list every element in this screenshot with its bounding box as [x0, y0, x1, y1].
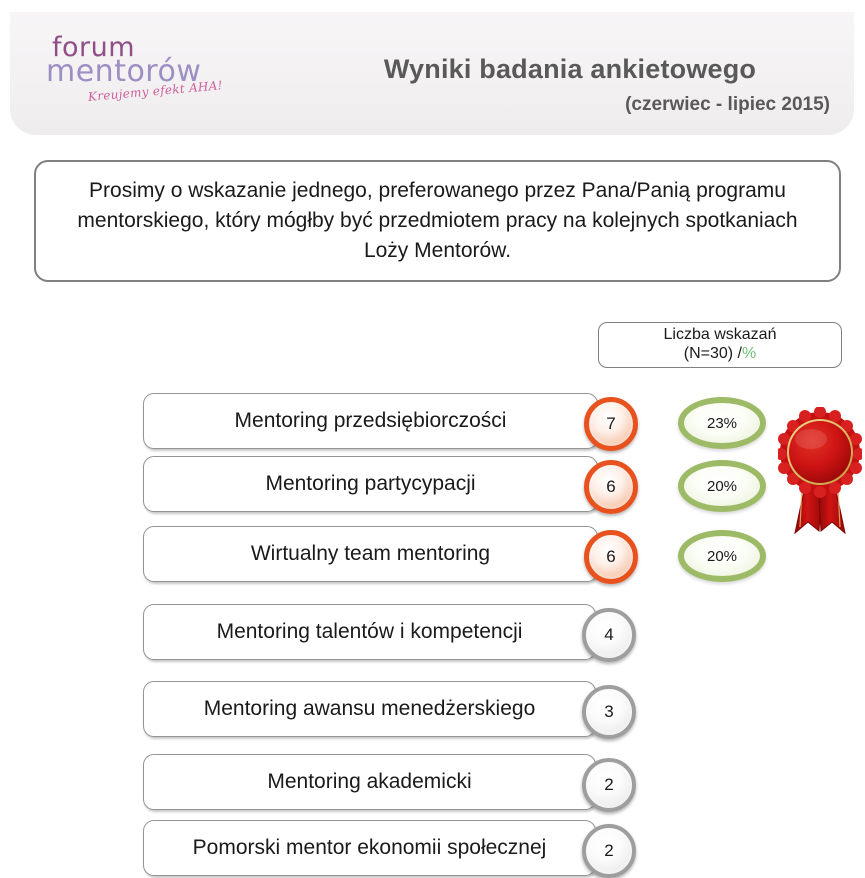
results-list: Mentoring przedsiębiorczości723%Mentorin…: [0, 0, 865, 878]
result-row-box: Mentoring talentów i kompetencji: [143, 604, 596, 660]
result-count-bubble: 2: [582, 758, 636, 812]
result-row-box: Mentoring partycypacji: [143, 456, 598, 512]
result-row-box: Mentoring akademicki: [143, 754, 596, 810]
result-count-bubble: 6: [584, 530, 638, 584]
result-count-bubble: 4: [582, 608, 636, 662]
result-row-box: Wirtualny team mentoring: [143, 526, 598, 582]
result-row-box: Mentoring przedsiębiorczości: [143, 393, 598, 449]
result-percent-ellipse: 23%: [678, 397, 766, 449]
result-count-bubble: 6: [584, 460, 638, 514]
result-row-label: Pomorski mentor ekonomii społecznej: [193, 836, 547, 860]
award-rosette-icon: [778, 407, 862, 539]
result-row-label: Mentoring talentów i kompetencji: [217, 620, 523, 644]
result-row-label: Mentoring przedsiębiorczości: [235, 409, 507, 433]
result-row-box: Pomorski mentor ekonomii społecznej: [143, 820, 596, 876]
result-percent-ellipse: 20%: [678, 460, 766, 512]
result-row-label: Wirtualny team mentoring: [251, 542, 490, 566]
result-count-bubble: 7: [584, 397, 638, 451]
result-row-label: Mentoring partycypacji: [265, 472, 475, 496]
result-row-label: Mentoring awansu menedżerskiego: [204, 697, 536, 721]
result-count-bubble: 3: [582, 685, 636, 739]
result-percent-ellipse: 20%: [678, 530, 766, 582]
result-count-bubble: 2: [582, 824, 636, 878]
result-row-box: Mentoring awansu menedżerskiego: [143, 681, 596, 737]
result-row-label: Mentoring akademicki: [267, 770, 471, 794]
